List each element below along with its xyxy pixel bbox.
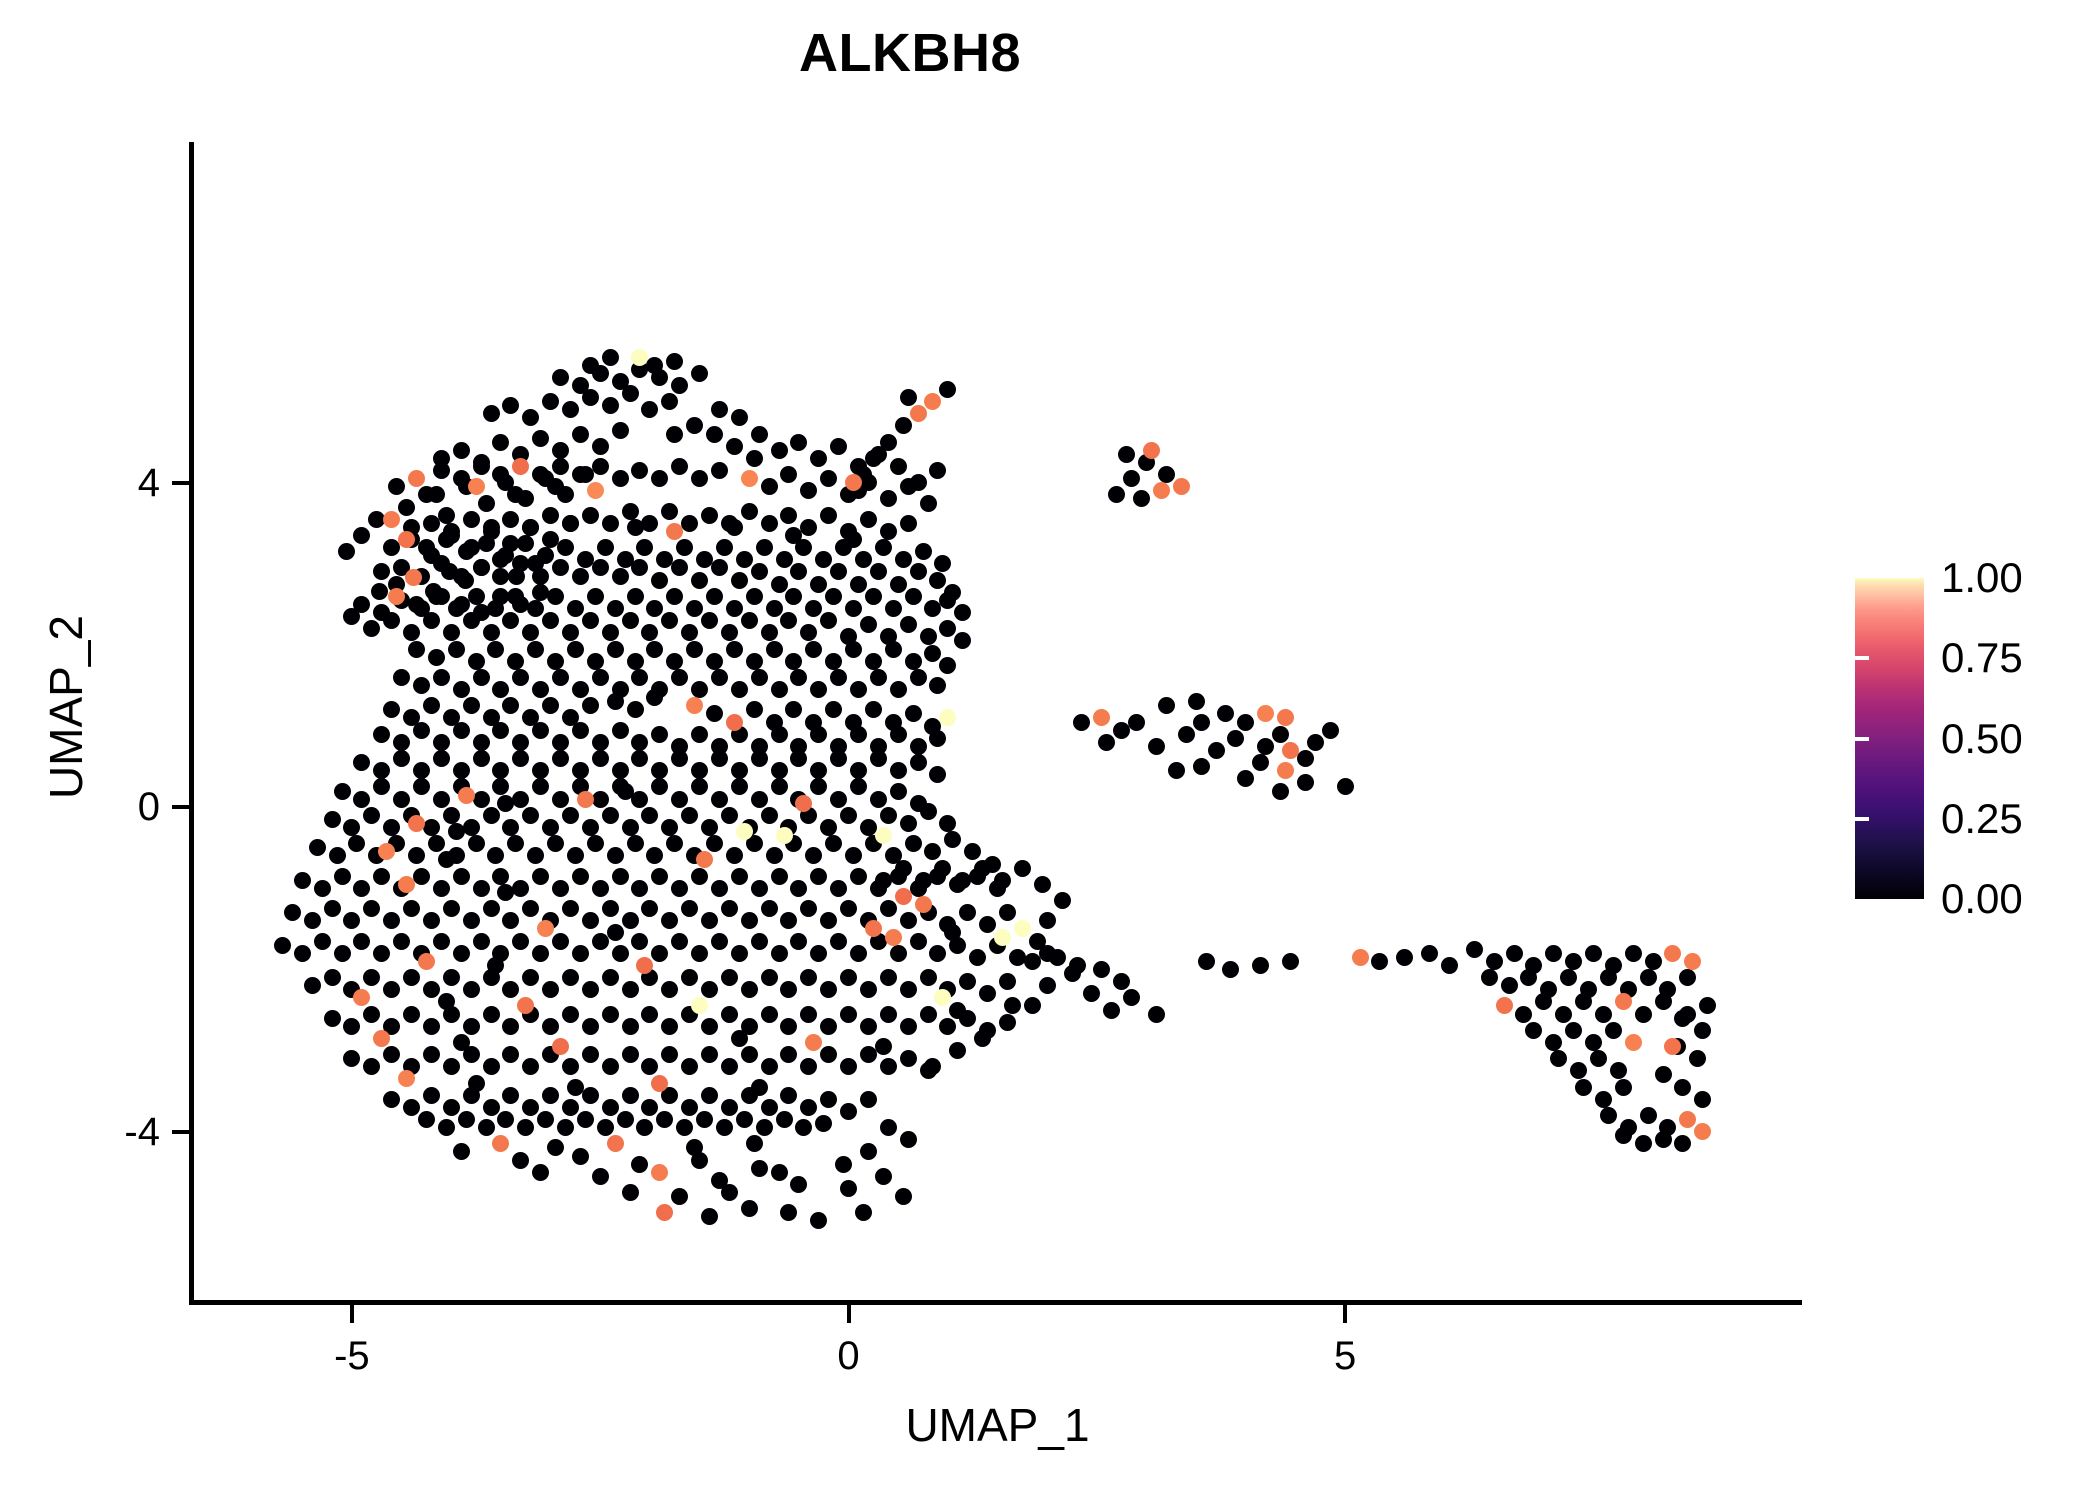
scatter-point (522, 1058, 539, 1075)
scatter-point (622, 503, 639, 520)
scatter-point (1148, 738, 1165, 755)
scatter-point (776, 551, 793, 568)
scatter-point (572, 1148, 589, 1165)
scatter-point (895, 888, 912, 905)
scatter-point (572, 945, 589, 962)
scatter-point (954, 872, 971, 889)
scatter-point (468, 835, 485, 852)
scatter-point (910, 563, 927, 580)
scatter-point (641, 900, 658, 917)
scatter-point (780, 1018, 797, 1035)
scatter-point (1635, 1006, 1652, 1023)
scatter-point (646, 641, 663, 658)
scatter-point (373, 762, 390, 779)
scatter-point (954, 632, 971, 649)
scatter-point (641, 1058, 658, 1075)
scatter-point (453, 762, 470, 779)
scatter-point (900, 616, 917, 633)
scatter-point (448, 600, 465, 617)
scatter-point (463, 697, 480, 714)
scatter-point (622, 912, 639, 929)
scatter-point (572, 377, 589, 394)
scatter-point (751, 791, 768, 808)
scatter-point (939, 709, 956, 726)
scatter-point (741, 1046, 758, 1063)
scatter-point (587, 653, 604, 670)
scatter-point (577, 1111, 594, 1128)
scatter-point (398, 876, 415, 893)
scatter-point (612, 470, 629, 487)
scatter-point (939, 1018, 956, 1035)
scatter-point (582, 612, 599, 629)
scatter-point (607, 600, 624, 617)
scatter-point (562, 969, 579, 986)
scatter-point (324, 969, 341, 986)
scatter-point (780, 1046, 797, 1063)
scatter-point (314, 933, 331, 950)
scatter-point (1039, 912, 1056, 929)
scatter-point (334, 783, 351, 800)
scatter-point (721, 1058, 738, 1075)
scatter-point (562, 900, 579, 917)
scatter-point (761, 1058, 778, 1075)
scatter-point (934, 989, 951, 1006)
scatter-point (388, 478, 405, 495)
scatter-point (860, 1046, 877, 1063)
scatter-point (532, 1164, 549, 1181)
scatter-point (512, 791, 529, 808)
scatter-point (905, 588, 922, 605)
scatter-point (1575, 993, 1592, 1010)
scatter-point (507, 835, 524, 852)
scatter-point (403, 624, 420, 641)
scatter-point (865, 588, 882, 605)
scatter-point (423, 515, 440, 532)
scatter-point (408, 470, 425, 487)
scatter-point (761, 1099, 778, 1116)
scatter-point (423, 612, 440, 629)
scatter-point (343, 1018, 360, 1035)
scatter-point (875, 1038, 892, 1055)
scatter-point (383, 981, 400, 998)
scatter-point (1481, 969, 1498, 986)
scatter-point (646, 689, 663, 706)
scatter-point (1605, 1022, 1622, 1039)
colorbar-tick-label: 1.00 (1941, 557, 2023, 599)
scatter-point (532, 778, 549, 795)
scatter-point (552, 734, 569, 751)
scatter-point (383, 1091, 400, 1108)
scatter-point (800, 482, 817, 499)
scatter-point (820, 981, 837, 998)
scatter-point (602, 349, 619, 366)
scatter-point (880, 523, 897, 540)
scatter-point (880, 434, 897, 451)
scatter-point (840, 807, 857, 824)
scatter-point (463, 511, 480, 528)
scatter-point (1322, 722, 1339, 739)
scatter-point (1640, 969, 1657, 986)
scatter-point (850, 726, 867, 743)
scatter-point (1625, 1034, 1642, 1051)
scatter-point (582, 912, 599, 929)
scatter-point (314, 880, 331, 897)
scatter-point (557, 1119, 574, 1136)
scatter-point (830, 791, 847, 808)
scatter-point (1173, 478, 1190, 495)
scatter-point (711, 880, 728, 897)
scatter-point (587, 482, 604, 499)
scatter-point (691, 997, 708, 1014)
scatter-point (433, 933, 450, 950)
scatter-point (954, 604, 971, 621)
scatter-point (1615, 993, 1632, 1010)
scatter-point (651, 762, 668, 779)
scatter-point (810, 945, 827, 962)
scatter-point (890, 945, 907, 962)
scatter-point (582, 1046, 599, 1063)
scatter-point (681, 515, 698, 532)
scatter-point (582, 507, 599, 524)
scatter-point (348, 835, 365, 852)
scatter-point (701, 1087, 718, 1104)
scatter-point (666, 353, 683, 370)
scatter-point (512, 750, 529, 767)
scatter-point (492, 868, 509, 885)
scatter-point (492, 762, 509, 779)
scatter-point (567, 847, 584, 864)
scatter-point (1565, 1022, 1582, 1039)
scatter-point (641, 1006, 658, 1023)
scatter-point (706, 426, 723, 443)
scatter-point (696, 851, 713, 868)
scatter-point (343, 912, 360, 929)
scatter-point (835, 1156, 852, 1173)
scatter-point (507, 588, 524, 605)
scatter-point (448, 823, 465, 840)
scatter-point (1014, 920, 1031, 937)
scatter-point (780, 1204, 797, 1221)
scatter-point (701, 1208, 718, 1225)
scatter-point (363, 900, 380, 917)
scatter-point (830, 750, 847, 767)
scatter-point (612, 762, 629, 779)
scatter-point (805, 641, 822, 658)
scatter-point (562, 807, 579, 824)
scatter-point (403, 969, 420, 986)
scatter-point (453, 681, 470, 698)
scatter-point (676, 1119, 693, 1136)
scatter-point (631, 559, 648, 576)
scatter-point (403, 900, 420, 917)
scatter-point (959, 973, 976, 990)
scatter-point (721, 1006, 738, 1023)
scatter-point (1615, 1079, 1632, 1096)
scatter-point (691, 470, 708, 487)
y-tick-mark (172, 481, 190, 485)
scatter-point (592, 458, 609, 475)
scatter-point (1004, 997, 1021, 1014)
scatter-point (651, 572, 668, 589)
scatter-point (557, 539, 574, 556)
scatter-point (939, 657, 956, 674)
scatter-point (880, 490, 897, 507)
scatter-point (393, 750, 410, 767)
scatter-point (666, 426, 683, 443)
scatter-point (463, 1087, 480, 1104)
scatter-point (552, 458, 569, 475)
scatter-point (433, 734, 450, 751)
scatter-point (696, 1111, 713, 1128)
scatter-point (959, 904, 976, 921)
scatter-point (691, 868, 708, 885)
scatter-point (924, 393, 941, 410)
scatter-point (542, 507, 559, 524)
scatter-point (880, 1058, 897, 1075)
scatter-point (627, 701, 644, 718)
scatter-point (363, 1058, 380, 1075)
scatter-point (731, 1030, 748, 1047)
scatter-point (900, 912, 917, 929)
scatter-point (731, 572, 748, 589)
scatter-point (746, 1135, 763, 1152)
scatter-point (860, 1143, 877, 1160)
scatter-point (706, 588, 723, 605)
scatter-point (681, 807, 698, 824)
scatter-point (701, 981, 718, 998)
scatter-point (830, 438, 847, 455)
scatter-point (602, 397, 619, 414)
scatter-point (681, 1058, 698, 1075)
scatter-point (1674, 1135, 1691, 1152)
scatter-point (363, 620, 380, 637)
scatter-point (746, 653, 763, 670)
scatter-point (900, 389, 917, 406)
scatter-point (741, 470, 758, 487)
scatter-point (502, 981, 519, 998)
scatter-point (820, 1091, 837, 1108)
scatter-point (1168, 762, 1185, 779)
scatter-point (468, 653, 485, 670)
scatter-point (790, 750, 807, 767)
scatter-point (1337, 778, 1354, 795)
scatter-point (532, 681, 549, 698)
scatter-point (890, 681, 907, 698)
scatter-point (855, 551, 872, 568)
scatter-point (929, 766, 946, 783)
scatter-point (463, 1046, 480, 1063)
scatter-point (1128, 714, 1145, 731)
scatter-point (592, 1168, 609, 1185)
scatter-point (1679, 1006, 1696, 1023)
scatter-point (592, 791, 609, 808)
scatter-point (284, 904, 301, 921)
scatter-point (522, 900, 539, 917)
scatter-point (572, 681, 589, 698)
scatter-point (1595, 1006, 1612, 1023)
colorbar-tick (1855, 656, 1869, 660)
x-tick-mark (350, 1305, 354, 1323)
scatter-point (405, 569, 422, 586)
scatter-point (746, 588, 763, 605)
scatter-point (433, 462, 450, 479)
scatter-point (671, 377, 688, 394)
scatter-point (443, 1058, 460, 1075)
scatter-point (304, 977, 321, 994)
scatter-point (393, 791, 410, 808)
scatter-point (418, 953, 435, 970)
scatter-point (1024, 997, 1041, 1014)
scatter-point (413, 778, 430, 795)
scatter-point (517, 1119, 534, 1136)
scatter-point (840, 1103, 857, 1120)
scatter-point (1113, 973, 1130, 990)
scatter-point (646, 600, 663, 617)
scatter-point (810, 1212, 827, 1229)
scatter-point (681, 1099, 698, 1116)
scatter-point (850, 778, 867, 795)
scatter-point (671, 750, 688, 767)
scatter-point (487, 641, 504, 658)
scatter-point (860, 511, 877, 528)
scatter-point (492, 681, 509, 698)
scatter-point (924, 645, 941, 662)
scatter-point (408, 641, 425, 658)
scatter-point (602, 807, 619, 824)
scatter-point (433, 555, 450, 572)
scatter-point (731, 945, 748, 962)
scatter-point (1496, 997, 1513, 1014)
scatter-point (423, 1087, 440, 1104)
scatter-point (1039, 977, 1056, 994)
scatter-point (453, 568, 470, 585)
scatter-point (691, 681, 708, 698)
scatter-point (627, 835, 644, 852)
scatter-point (631, 669, 648, 686)
scatter-point (1123, 470, 1140, 487)
scatter-point (751, 426, 768, 443)
scatter-point (473, 791, 490, 808)
scatter-point (587, 835, 604, 852)
scatter-point (691, 572, 708, 589)
scatter-point (492, 778, 509, 795)
scatter-point (671, 559, 688, 576)
scatter-point (905, 653, 922, 670)
scatter-point (870, 791, 887, 808)
scatter-point (338, 543, 355, 560)
scatter-point (805, 847, 822, 864)
scatter-point (1550, 1050, 1567, 1067)
scatter-point (880, 1119, 897, 1136)
scatter-point (929, 462, 946, 479)
scatter-point (1083, 985, 1100, 1002)
scatter-point (969, 949, 986, 966)
scatter-point (780, 466, 797, 483)
scatter-point (641, 1099, 658, 1116)
scatter-point (825, 653, 842, 670)
scatter-point (681, 624, 698, 641)
scatter-point (790, 933, 807, 950)
scatter-point (910, 405, 927, 422)
scatter-point (433, 880, 450, 897)
scatter-point (1694, 1022, 1711, 1039)
scatter-point (542, 612, 559, 629)
scatter-point (597, 539, 614, 556)
scatter-point (458, 1111, 475, 1128)
scatter-point (309, 839, 326, 856)
scatter-point (825, 701, 842, 718)
scatter-point (711, 933, 728, 950)
scatter-point (939, 620, 956, 637)
scatter-point (373, 868, 390, 885)
scatter-point (577, 791, 594, 808)
scatter-point (473, 750, 490, 767)
scatter-point (741, 612, 758, 629)
scatter-point (532, 430, 549, 447)
scatter-point (1069, 957, 1086, 974)
scatter-point (944, 831, 961, 848)
scatter-point (900, 515, 917, 532)
scatter-point (800, 1099, 817, 1116)
scatter-point (641, 624, 658, 641)
scatter-point (726, 519, 743, 536)
scatter-point (532, 762, 549, 779)
scatter-point (542, 697, 559, 714)
scatter-point (776, 827, 793, 844)
x-tick-label: -5 (292, 1336, 412, 1376)
scatter-point (622, 819, 639, 836)
scatter-point (905, 705, 922, 722)
scatter-point (517, 535, 534, 552)
scatter-point (641, 401, 658, 418)
scatter-point (487, 600, 504, 617)
scatter-point (383, 612, 400, 629)
colorbar-tick-label: 0.25 (1941, 798, 2023, 840)
scatter-point (1501, 977, 1518, 994)
scatter-point (473, 458, 490, 475)
scatter-point (805, 600, 822, 617)
scatter-point (552, 442, 569, 459)
scatter-point (418, 539, 435, 556)
scatter-point (766, 641, 783, 658)
scatter-point (1689, 1050, 1706, 1067)
scatter-point (924, 843, 941, 860)
scatter-point (915, 896, 932, 913)
scatter-point (1679, 969, 1696, 986)
scatter-point (602, 969, 619, 986)
scatter-point (408, 847, 425, 864)
scatter-point (691, 365, 708, 382)
scatter-point (572, 868, 589, 885)
scatter-point (771, 762, 788, 779)
scatter-point (736, 1111, 753, 1128)
scatter-point (805, 1034, 822, 1051)
scatter-point (731, 681, 748, 698)
scatter-point (910, 754, 927, 771)
scatter-point (1664, 945, 1681, 962)
scatter-point (726, 714, 743, 731)
scatter-point (443, 1099, 460, 1116)
scatter-point (656, 1204, 673, 1221)
scatter-point (731, 778, 748, 795)
scatter-point (860, 1018, 877, 1035)
scatter-point (999, 904, 1016, 921)
scatter-point (413, 868, 430, 885)
scatter-point (1237, 770, 1254, 787)
scatter-point (785, 701, 802, 718)
scatter-point (761, 807, 778, 824)
scatter-point (820, 1046, 837, 1063)
